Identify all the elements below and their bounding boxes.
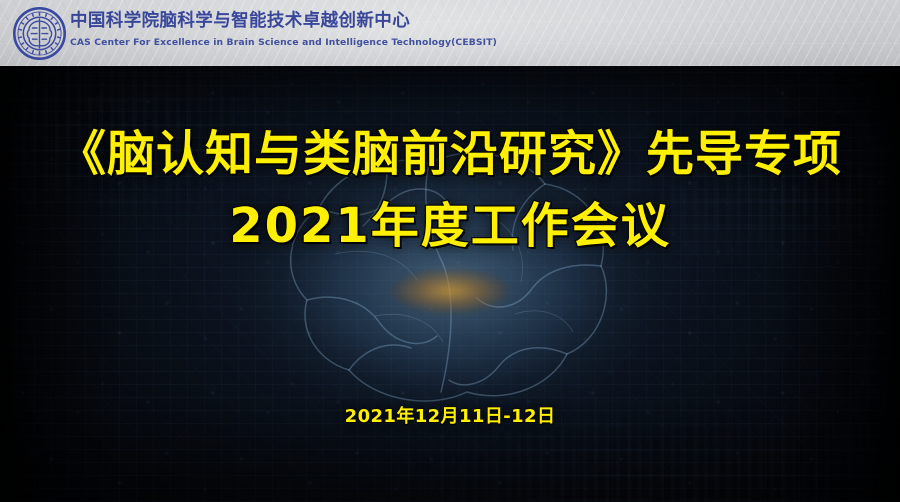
slide-title-block: 《脑认知与类脑前沿研究》先导专项 2021年度工作会议 <box>0 118 900 262</box>
presentation-slide: 中国科学院脑科学与智能技术卓越创新中心 CAS Center For Excel… <box>0 0 900 502</box>
event-date-text: 2021年12月11日-12日 <box>0 402 900 428</box>
slide-header-bar: 中国科学院脑科学与智能技术卓越创新中心 CAS Center For Excel… <box>0 0 900 66</box>
title-line-2: 2021年度工作会议 <box>0 190 900 262</box>
title-line-1: 《脑认知与类脑前沿研究》先导专项 <box>0 118 900 190</box>
org-name-cn: 中国科学院脑科学与智能技术卓越创新中心 <box>70 9 770 34</box>
cebsit-circular-seal-brain-icon <box>13 7 66 60</box>
cebsit-logo <box>13 7 66 60</box>
org-name-en: CAS Center For Excellence in Brain Scien… <box>70 36 770 49</box>
organization-names: 中国科学院脑科学与智能技术卓越创新中心 CAS Center For Excel… <box>70 9 770 49</box>
brain-core-glow <box>390 268 510 314</box>
